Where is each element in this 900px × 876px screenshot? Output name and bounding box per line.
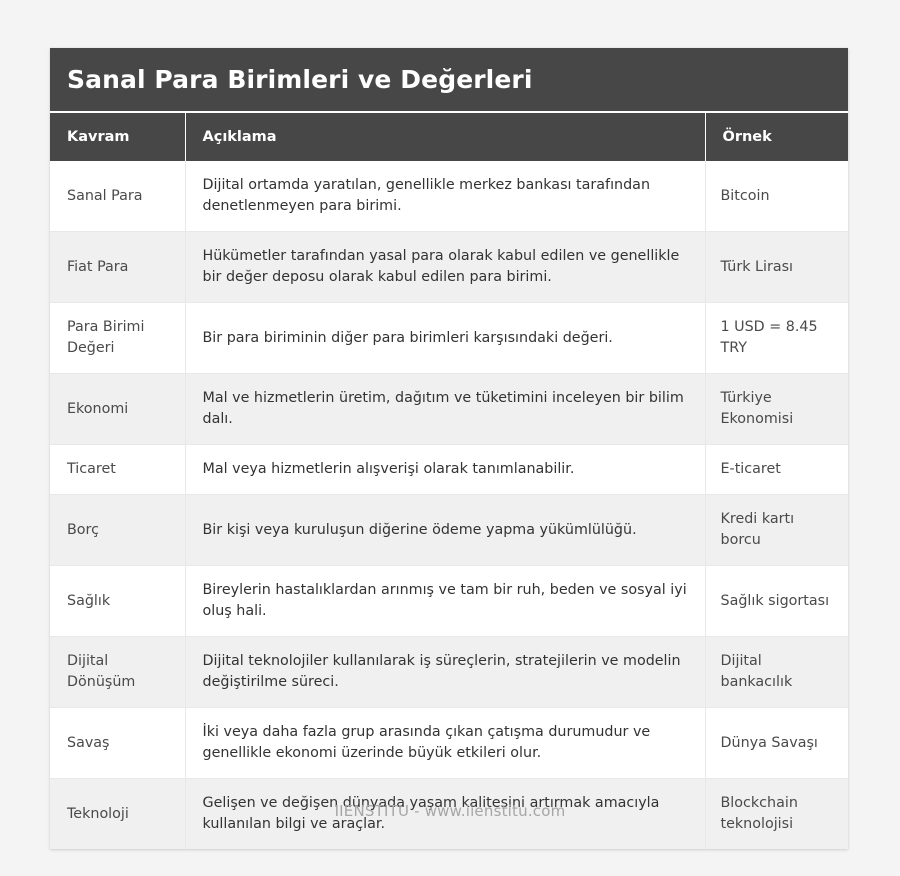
page-root: Sanal Para Birimleri ve Değerleri Kavram… bbox=[0, 0, 900, 876]
cell-term: Sanal Para bbox=[50, 161, 185, 232]
page-title: Sanal Para Birimleri ve Değerleri bbox=[67, 66, 533, 94]
table-row: TicaretMal veya hizmetlerin alışverişi o… bbox=[50, 445, 848, 495]
table-row: EkonomiMal ve hizmetlerin üretim, dağıtı… bbox=[50, 374, 848, 445]
cell-term: Ekonomi bbox=[50, 374, 185, 445]
table-row: BorçBir kişi veya kuruluşun diğerine öde… bbox=[50, 495, 848, 566]
cell-description: Dijital ortamda yaratılan, genellikle me… bbox=[185, 161, 705, 232]
table-body: Sanal ParaDijital ortamda yaratılan, gen… bbox=[50, 161, 848, 849]
table-row: SağlıkBireylerin hastalıklardan arınmış … bbox=[50, 566, 848, 637]
cell-example: 1 USD = 8.45 TRY bbox=[705, 303, 848, 374]
cell-example: Türkiye Ekonomisi bbox=[705, 374, 848, 445]
table-row: Dijital DönüşümDijital teknolojiler kull… bbox=[50, 637, 848, 708]
cell-example: Bitcoin bbox=[705, 161, 848, 232]
cell-example: E-ticaret bbox=[705, 445, 848, 495]
cell-term: Para Birimi Değeri bbox=[50, 303, 185, 374]
column-header-ornek: Örnek bbox=[705, 113, 848, 161]
cell-example: Kredi kartı borcu bbox=[705, 495, 848, 566]
cell-example: Dünya Savaşı bbox=[705, 708, 848, 779]
title-bar: Sanal Para Birimleri ve Değerleri bbox=[50, 48, 848, 111]
cell-term: Borç bbox=[50, 495, 185, 566]
cell-description: Bireylerin hastalıklardan arınmış ve tam… bbox=[185, 566, 705, 637]
cell-description: Bir kişi veya kuruluşun diğerine ödeme y… bbox=[185, 495, 705, 566]
cell-example: Dijital bankacılık bbox=[705, 637, 848, 708]
cell-example: Sağlık sigortası bbox=[705, 566, 848, 637]
table-row: Fiat ParaHükümetler tarafından yasal par… bbox=[50, 232, 848, 303]
table-card: Sanal Para Birimleri ve Değerleri Kavram… bbox=[50, 48, 848, 849]
table-row: Sanal ParaDijital ortamda yaratılan, gen… bbox=[50, 161, 848, 232]
column-header-aciklama: Açıklama bbox=[185, 113, 705, 161]
column-header-kavram: Kavram bbox=[50, 113, 185, 161]
cell-term: Fiat Para bbox=[50, 232, 185, 303]
footer-branding: IIENSTITU - www.iienstitu.com bbox=[0, 802, 900, 820]
cell-term: Savaş bbox=[50, 708, 185, 779]
cell-description: Hükümetler tarafından yasal para olarak … bbox=[185, 232, 705, 303]
cell-term: Ticaret bbox=[50, 445, 185, 495]
cell-description: Bir para biriminin diğer para birimleri … bbox=[185, 303, 705, 374]
table-header: Kavram Açıklama Örnek bbox=[50, 113, 848, 161]
cell-description: Mal veya hizmetlerin alışverişi olarak t… bbox=[185, 445, 705, 495]
table-row: Savaşİki veya daha fazla grup arasında ç… bbox=[50, 708, 848, 779]
cell-example: Türk Lirası bbox=[705, 232, 848, 303]
table-row: Para Birimi DeğeriBir para biriminin diğ… bbox=[50, 303, 848, 374]
cell-description: Dijital teknolojiler kullanılarak iş sür… bbox=[185, 637, 705, 708]
cell-description: Mal ve hizmetlerin üretim, dağıtım ve tü… bbox=[185, 374, 705, 445]
cell-term: Dijital Dönüşüm bbox=[50, 637, 185, 708]
table-header-row: Kavram Açıklama Örnek bbox=[50, 113, 848, 161]
concepts-table: Kavram Açıklama Örnek Sanal ParaDijital … bbox=[50, 113, 848, 849]
cell-description: İki veya daha fazla grup arasında çıkan … bbox=[185, 708, 705, 779]
cell-term: Sağlık bbox=[50, 566, 185, 637]
